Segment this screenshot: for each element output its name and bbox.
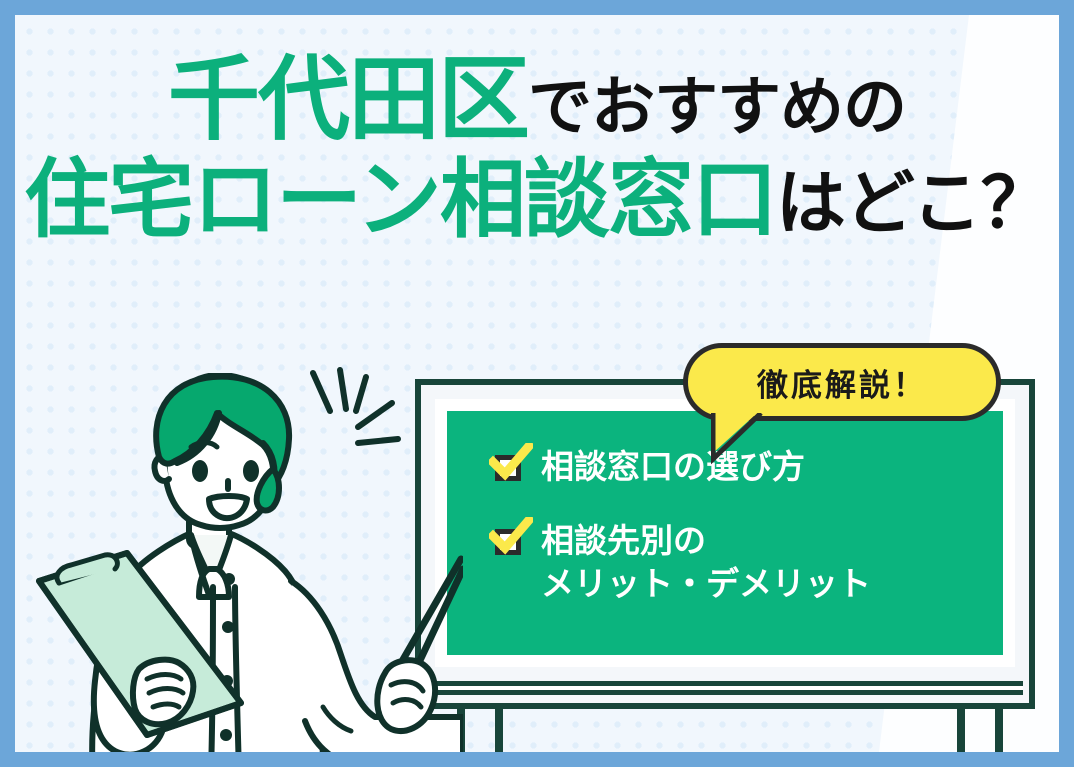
page-title: 千代田区でおすすめの 住宅ローン相談窓口はどこ？ [15,53,1059,245]
title-line-2: 住宅ローン相談窓口はどこ？ [15,157,1059,245]
checkbox-checked-icon [493,523,527,557]
list-item: 相談先別の メリット・デメリット [493,519,1005,606]
callout-bubble: 徹底解説！ [683,343,1001,421]
board-leg-right [995,707,1003,752]
board-ledge [427,681,1023,695]
title-line-1-rest: でおすすめの [528,71,906,145]
thumbnail-canvas: 千代田区でおすすめの 住宅ローン相談窓口はどこ？ [0,0,1074,767]
title-highlight-area: 千代田区 [168,46,528,153]
title-line-2-rest: はどこ？ [776,162,1050,244]
title-highlight-topic: 住宅ローン相談窓口 [24,150,776,250]
title-line-1: 千代田区でおすすめの [15,53,1059,147]
callout-bubble-label: 徹底解説！ [683,343,1001,421]
woman-illustration [23,373,463,752]
checkbox-checked-icon [493,449,527,483]
board-leg-right-inner [957,707,965,752]
list-item-label: 相談先別の メリット・デメリット [527,519,871,606]
board-leg-left-inner [495,707,503,752]
inner-dotted-panel: 千代田区でおすすめの 住宅ローン相談窓口はどこ？ [15,15,1059,752]
